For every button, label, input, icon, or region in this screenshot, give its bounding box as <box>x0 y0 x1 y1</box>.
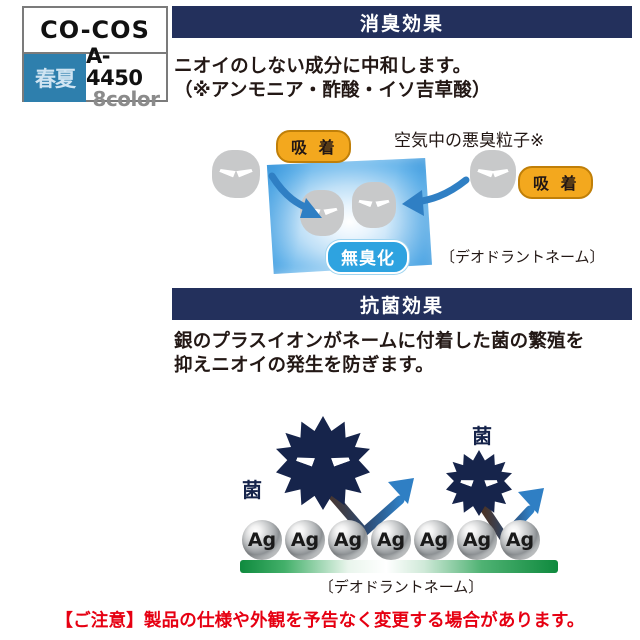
antibacterial-body-line-2: 抑えニオイの発生を防ぎます。 <box>174 354 636 378</box>
season-badge: 春夏 <box>24 54 86 102</box>
brand-logo-text: CO-COS <box>40 16 150 44</box>
antibacterial-body-line-1: 銀のプラスイオンがネームに付着した菌の繁殖を <box>174 330 636 354</box>
badge-adsorb-left: 吸 着 <box>276 130 351 163</box>
particle-eye-left-icon <box>477 166 494 178</box>
caption-air-particles: 空気中の悪臭粒子※ <box>394 126 544 151</box>
badge-adsorb-right: 吸 着 <box>518 166 593 199</box>
section-body-antibacterial: 銀のプラスイオンがネームに付着した菌の繁殖を 抑えニオイの発生を防ぎます。 <box>174 330 636 379</box>
deodorizing-body-line-1: ニオイのしない成分に中和します。 <box>174 55 636 79</box>
bacteria-burst-large <box>276 416 370 510</box>
particle-eye-left-icon <box>219 166 236 178</box>
bacteria-eye-left-icon <box>460 476 474 487</box>
badge-deodorized: 無臭化 <box>326 240 409 274</box>
product-feature-page: CO-COS 春夏 A-4450 8color 消臭効果 ニオイのしない成分に中… <box>0 0 640 640</box>
product-code-block: A-4450 8color <box>86 54 166 102</box>
deodorizing-body-line-2: （※アンモニア・酢酸・イソ吉草酸） <box>174 79 636 103</box>
particle-eye-right-icon <box>375 197 389 207</box>
particle-eye-left-icon <box>307 205 321 215</box>
particle-eye-right-icon <box>492 166 509 178</box>
section-body-deodorizing: ニオイのしない成分に中和します。 （※アンモニア・酢酸・イソ吉草酸） <box>174 55 636 104</box>
section-heading-deodorizing: 消臭効果 <box>172 6 632 38</box>
bacteria-eye-right-icon <box>485 476 499 487</box>
captured-particle-1 <box>300 190 344 236</box>
caption-deodorant-name-top: 〔デオドラントネーム〕 <box>440 246 605 267</box>
disclaimer-notice: 【ご注意】製品の仕様や外観を予告なく変更する場合があります。 <box>0 607 640 632</box>
deodorant-name-tape <box>240 560 558 573</box>
odor-particle-left <box>212 150 260 198</box>
particle-eye-right-icon <box>236 166 253 178</box>
silver-ion-row: Ag Ag Ag Ag Ag Ag Ag <box>242 520 540 560</box>
deodorizing-illustration: 吸 着 吸 着 無臭化 空気中の悪臭粒子※ 〔デオドラントネーム〕 <box>180 124 636 282</box>
bacteria-burst-small <box>446 450 512 516</box>
ag-sphere: Ag <box>328 520 368 560</box>
particle-eye-right-icon <box>323 205 337 215</box>
bacteria-label-right: 菌 <box>472 420 492 449</box>
color-count: 8color <box>93 89 160 109</box>
bacteria-eye-right-icon <box>331 453 350 467</box>
odor-particle-right <box>470 150 516 198</box>
section-heading-antibacterial: 抗菌効果 <box>172 288 632 320</box>
particle-eye-left-icon <box>359 197 373 207</box>
ag-sphere: Ag <box>500 520 540 560</box>
ag-sphere: Ag <box>414 520 454 560</box>
bacteria-eye-left-icon <box>296 453 315 467</box>
ag-sphere: Ag <box>371 520 411 560</box>
bacteria-label-left: 菌 <box>242 474 262 503</box>
captured-particle-2 <box>352 182 396 228</box>
product-code: A-4450 <box>86 46 166 89</box>
product-code-row: 春夏 A-4450 8color <box>24 54 166 102</box>
caption-deodorant-name-bottom: 〔デオドラントネーム〕 <box>266 576 536 597</box>
ag-sphere: Ag <box>242 520 282 560</box>
ag-sphere: Ag <box>285 520 325 560</box>
antibacterial-illustration: 菌 菌 Ag Ag Ag Ag Ag Ag Ag 〔デオドラントネーム〕 <box>200 408 600 598</box>
ag-sphere: Ag <box>457 520 497 560</box>
brand-logo-box: CO-COS 春夏 A-4450 8color <box>22 6 168 102</box>
